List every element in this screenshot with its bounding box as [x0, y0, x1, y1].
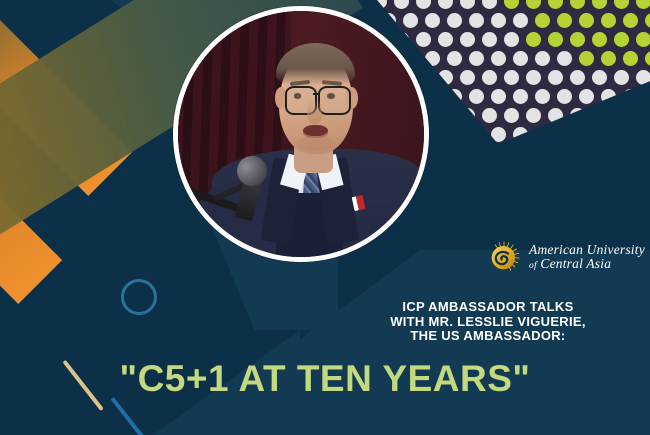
dot: [645, 51, 650, 66]
dot: [526, 32, 541, 47]
dot: [447, 127, 462, 142]
eyeglasses-bridge: [313, 93, 319, 95]
dot: [557, 13, 572, 28]
dot: [491, 13, 506, 28]
subtitle-line-1: ICP AMBASSADOR TALKS: [348, 300, 628, 315]
dot: [592, 108, 607, 123]
subtitle-line-3: THE US AMBASSADOR:: [348, 329, 628, 344]
dot: [526, 70, 541, 85]
dot: [548, 32, 563, 47]
dot: [504, 70, 519, 85]
dot: [614, 70, 629, 85]
dot: [469, 13, 484, 28]
dot: [469, 127, 484, 142]
auca-logo-line1: American University: [529, 243, 645, 257]
dot: [645, 13, 650, 28]
dot: [460, 32, 475, 47]
dot: [592, 32, 607, 47]
dot: [460, 108, 475, 123]
dot: [469, 51, 484, 66]
dot: [579, 89, 594, 104]
dot: [557, 89, 572, 104]
dot: [614, 108, 629, 123]
dot: [645, 89, 650, 104]
dot: [425, 13, 440, 28]
dot: [623, 13, 638, 28]
circle-outline-accent: [121, 279, 157, 315]
dot: [526, 108, 541, 123]
dot: [447, 89, 462, 104]
dot: [447, 13, 462, 28]
dot: [636, 32, 650, 47]
speaker-portrait: [173, 6, 429, 262]
dot: [579, 13, 594, 28]
dot: [535, 89, 550, 104]
dot: [601, 13, 616, 28]
auca-logo: American University of Central Asia: [487, 240, 645, 274]
dot: [513, 89, 528, 104]
dot: [491, 89, 506, 104]
event-poster: American University of Central Asia ICP …: [0, 0, 650, 435]
auca-logo-line2-text: Central Asia: [540, 256, 611, 271]
dot: [636, 70, 650, 85]
event-subtitle: ICP AMBASSADOR TALKS WITH MR. LESSLIE VI…: [348, 300, 628, 344]
dot: [447, 51, 462, 66]
dot: [438, 70, 453, 85]
dot: [504, 32, 519, 47]
dot: [438, 108, 453, 123]
dot: [425, 89, 440, 104]
dot: [460, 70, 475, 85]
dot: [460, 0, 475, 9]
subtitle-line-2: WITH MR. LESSLIE VIGUERIE,: [348, 315, 628, 330]
dot: [636, 0, 650, 9]
dot: [645, 127, 650, 142]
dot: [601, 127, 616, 142]
dot: [482, 32, 497, 47]
dot: [636, 108, 650, 123]
dot: [504, 108, 519, 123]
dot: [579, 51, 594, 66]
nose: [307, 100, 322, 125]
dot: [482, 108, 497, 123]
dot: [579, 127, 594, 142]
event-headline: "C5+1 AT TEN YEARS": [0, 358, 650, 400]
dot: [535, 127, 550, 142]
dot: [614, 0, 629, 9]
dot: [491, 127, 506, 142]
dot: [438, 0, 453, 9]
dot: [513, 127, 528, 142]
dot: [425, 51, 440, 66]
dot: [504, 0, 519, 9]
dot: [548, 0, 563, 9]
dot: [623, 127, 638, 142]
dot: [548, 70, 563, 85]
dot: [548, 108, 563, 123]
dot: [482, 70, 497, 85]
dot: [623, 89, 638, 104]
dot: [623, 51, 638, 66]
auca-sun-emblem-icon: [487, 240, 521, 274]
auca-logo-line2: of Central Asia: [529, 257, 645, 271]
dot: [557, 51, 572, 66]
dot: [614, 32, 629, 47]
dot: [394, 0, 409, 9]
dot: [570, 108, 585, 123]
dot: [491, 51, 506, 66]
dot: [570, 0, 585, 9]
dot: [469, 89, 484, 104]
dot: [513, 51, 528, 66]
dot: [557, 127, 572, 142]
dot: [601, 51, 616, 66]
dot: [592, 0, 607, 9]
dot: [482, 0, 497, 9]
eyeglasses-right: [318, 86, 350, 115]
dot: [438, 32, 453, 47]
auca-logo-of: of: [529, 261, 537, 271]
dot: [601, 89, 616, 104]
dot: [372, 0, 387, 9]
dot: [526, 0, 541, 9]
auca-logo-text: American University of Central Asia: [529, 243, 645, 272]
dot: [570, 70, 585, 85]
dot: [570, 32, 585, 47]
dot: [535, 51, 550, 66]
dot: [416, 0, 431, 9]
dot: [592, 70, 607, 85]
dot: [513, 13, 528, 28]
dot: [535, 13, 550, 28]
